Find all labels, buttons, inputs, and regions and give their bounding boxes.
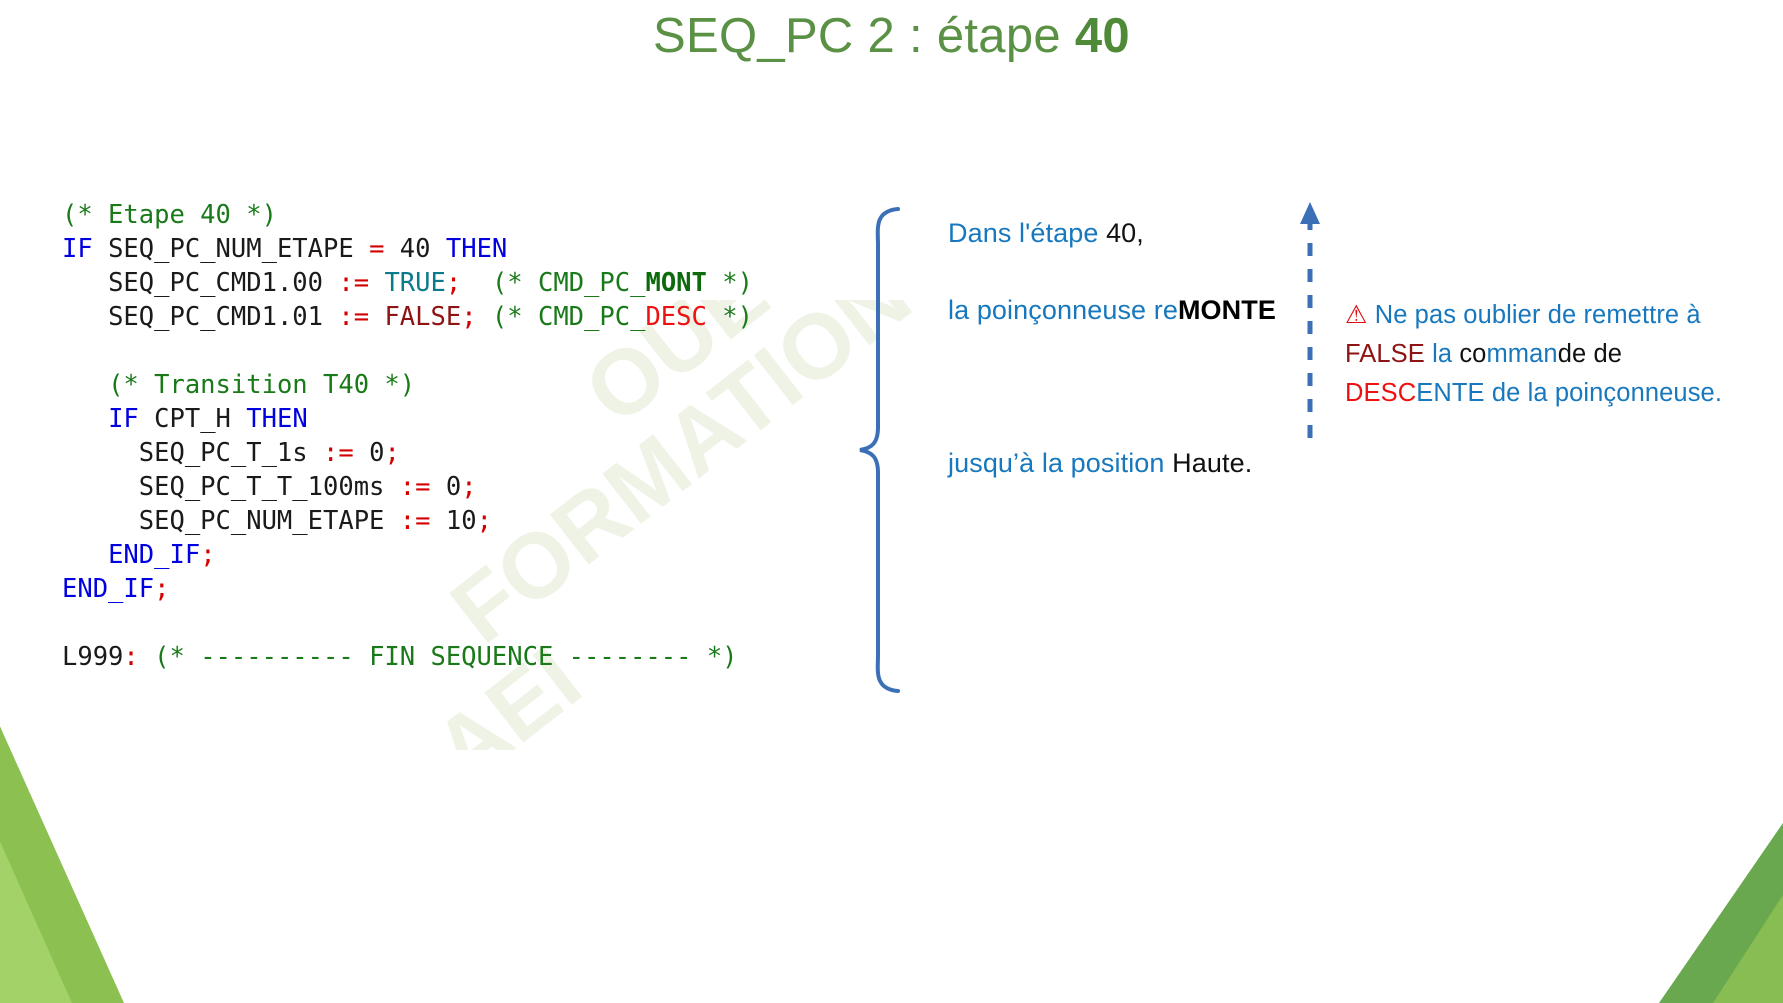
code-semi-6: ; <box>200 540 215 570</box>
annotation-line-2-monte: MONTE <box>1178 295 1276 325</box>
warning-text-seg8: ENTE de la poinçonneuse. <box>1416 379 1722 407</box>
code-kw-if-2: IF <box>108 404 139 434</box>
code-var-num-etape-1: SEQ_PC_NUM_ETAPE <box>108 234 354 264</box>
code-op-assign-1: := <box>338 268 369 298</box>
code-kw-if-1: IF <box>62 234 93 264</box>
warning-text-false: FALSE <box>1345 340 1425 368</box>
code-num-0-a: 0 <box>369 438 384 468</box>
warning-text-seg1: Ne pas oublier de remettre à <box>1368 301 1701 329</box>
code-var-cmd1-00: SEQ_PC_CMD1.00 <box>108 268 323 298</box>
code-op-assign-4: := <box>400 472 431 502</box>
code-op-eq: = <box>369 234 384 264</box>
annotation-line-3-haute: Haute. <box>1172 448 1252 478</box>
curly-brace <box>856 205 906 695</box>
code-semi-3: ; <box>384 438 399 468</box>
annotation-line-2-blue: la poinçonneuse re <box>948 295 1178 325</box>
code-num-0-b: 0 <box>446 472 461 502</box>
code-semi-7: ; <box>154 574 169 604</box>
slide-canvas: FORMATION OUEST AEI SEQ_PC 2 : étape 40 … <box>0 0 1783 1003</box>
annotation-line-2: la poinçonneuse reMONTE <box>948 295 1276 326</box>
warning-text-desc: DESC <box>1345 379 1416 407</box>
annotation-line-3: jusqu’à la position Haute. <box>948 448 1252 479</box>
code-comment-etape: (* Etape 40 *) <box>62 200 277 230</box>
code-block: (* Etape 40 *) IF SEQ_PC_NUM_ETAPE = 40 … <box>62 198 753 674</box>
code-semi-1: ; <box>446 268 461 298</box>
code-kw-endif-2: END_IF <box>62 574 154 604</box>
warning-text-seg4: co <box>1459 340 1486 368</box>
code-op-assign-2: := <box>338 302 369 332</box>
code-var-cpt-h: CPT_H <box>154 404 231 434</box>
page-title-step-number: 40 <box>1075 9 1130 63</box>
annotation-line-1-blue: Dans l'étape <box>948 218 1106 248</box>
code-val-true: TRUE <box>384 268 445 298</box>
code-num-10: 10 <box>446 506 477 536</box>
code-op-assign-3: := <box>323 438 354 468</box>
code-var-t-1s: SEQ_PC_T_1s <box>139 438 308 468</box>
code-var-num-etape-2: SEQ_PC_NUM_ETAPE <box>139 506 385 536</box>
code-label-l999: L999 <box>62 642 123 672</box>
warning-triangle-icon: ⚠ <box>1345 301 1368 329</box>
annotation-line-1: Dans l'étape 40, <box>948 218 1144 249</box>
code-comment-mont-open: (* CMD_PC_ <box>492 268 646 298</box>
code-colon: : <box>123 642 138 672</box>
dashed-up-arrow-icon <box>1295 200 1325 440</box>
code-semi-4: ; <box>461 472 476 502</box>
annotation-line-3-blue: jusqu’à la position <box>948 448 1172 478</box>
code-semi-2: ; <box>461 302 476 332</box>
code-op-assign-5: := <box>400 506 431 536</box>
code-comment-desc-red: DESC <box>645 302 706 332</box>
code-comment-fin: (* ---------- FIN SEQUENCE -------- *) <box>154 642 737 672</box>
code-var-cmd1-01: SEQ_PC_CMD1.01 <box>108 302 323 332</box>
code-comment-desc-close: *) <box>707 302 753 332</box>
code-kw-then-2: THEN <box>246 404 307 434</box>
code-var-t-100ms: SEQ_PC_T_T_100ms <box>139 472 385 502</box>
code-kw-then-1: THEN <box>446 234 507 264</box>
warning-text-seg6: de de <box>1558 340 1622 368</box>
warning-text-seg5: mman <box>1486 340 1557 368</box>
code-comment-desc-open: (* CMD_PC_ <box>492 302 646 332</box>
code-comment-mont-bold: MONT <box>645 268 706 298</box>
code-comment-transition: (* Transition T40 *) <box>108 370 415 400</box>
warning-note: ⚠ Ne pas oublier de remettre à FALSE la … <box>1345 296 1765 413</box>
code-val-false: FALSE <box>384 302 461 332</box>
code-semi-5: ; <box>477 506 492 536</box>
page-title: SEQ_PC 2 : étape 40 <box>0 8 1783 64</box>
page-title-main: SEQ_PC 2 : étape <box>653 9 1075 63</box>
warning-text-seg3: la <box>1425 340 1459 368</box>
code-num-40: 40 <box>400 234 431 264</box>
code-kw-endif-1: END_IF <box>108 540 200 570</box>
decorative-triangle-right <box>1563 803 1783 1003</box>
annotation-line-1-step: 40, <box>1106 218 1144 248</box>
code-comment-mont-close: *) <box>707 268 753 298</box>
